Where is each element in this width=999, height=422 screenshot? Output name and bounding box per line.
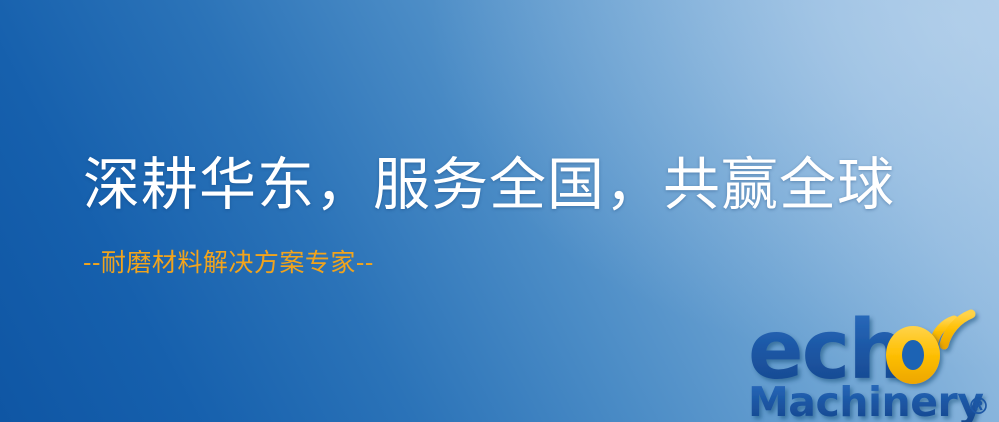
banner-text-block: 深耕华东，服务全国，共赢全球 --耐磨材料解决方案专家-- — [83, 148, 895, 278]
signal-waves-icon — [934, 314, 971, 345]
logo-svg: ech Machinery ® — [748, 296, 999, 422]
banner-headline: 深耕华东，服务全国，共赢全球 — [83, 148, 895, 222]
echo-machinery-logo[interactable]: ech Machinery ® — [748, 296, 999, 422]
promo-banner: 深耕华东，服务全国，共赢全球 --耐磨材料解决方案专家-- — [0, 0, 999, 422]
logo-text-machinery: Machinery — [748, 378, 983, 422]
banner-subtitle: --耐磨材料解决方案专家-- — [83, 222, 895, 278]
registered-trademark-icon: ® — [967, 394, 990, 420]
logo-o-ring-icon — [886, 326, 940, 384]
